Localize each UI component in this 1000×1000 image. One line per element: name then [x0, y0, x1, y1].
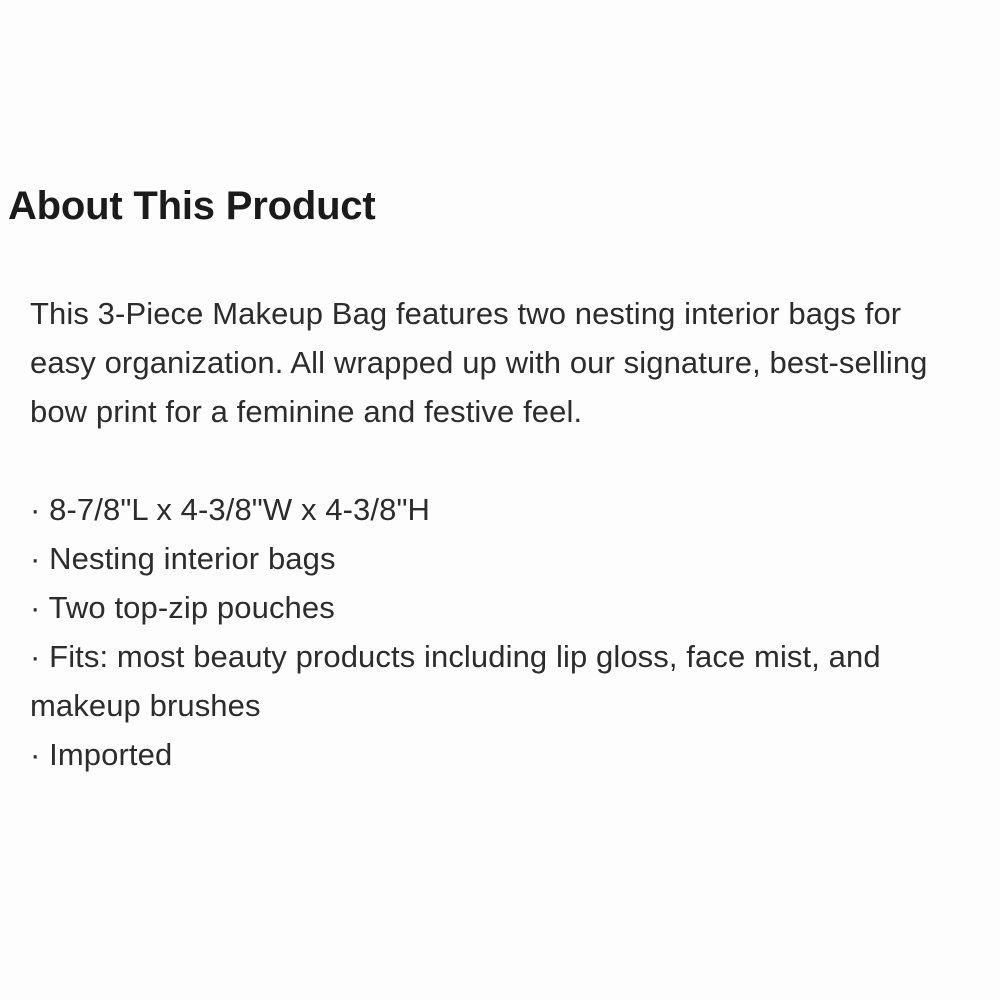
list-item: · Two top-zip pouches	[30, 583, 975, 632]
bullet-icon: ·	[30, 541, 40, 576]
list-item-label: Two top-zip pouches	[49, 590, 335, 625]
bullet-icon: ·	[30, 492, 40, 527]
list-item-label: Imported	[49, 737, 172, 772]
bullet-icon: ·	[30, 590, 40, 625]
description-body: This 3-Piece Makeup Bag features two nes…	[30, 289, 975, 779]
list-item: · Imported	[30, 730, 975, 779]
spec-bullet-list: · 8-7/8"L x 4-3/8"W x 4-3/8"H · Nesting …	[30, 485, 975, 779]
list-item: · 8-7/8"L x 4-3/8"W x 4-3/8"H	[30, 485, 975, 534]
list-item-label: Nesting interior bags	[49, 541, 335, 576]
product-description-section: About This Product This 3-Piece Makeup B…	[0, 0, 1000, 1000]
bullet-icon: ·	[30, 639, 40, 674]
list-item-label: 8-7/8"L x 4-3/8"W x 4-3/8"H	[49, 492, 430, 527]
page-title: About This Product	[8, 184, 375, 228]
list-item-label: Fits: most beauty products including lip…	[30, 639, 881, 723]
intro-paragraph: This 3-Piece Makeup Bag features two nes…	[30, 289, 975, 436]
list-item: · Fits: most beauty products including l…	[30, 632, 975, 730]
bullet-icon: ·	[30, 737, 40, 772]
list-item: · Nesting interior bags	[30, 534, 975, 583]
